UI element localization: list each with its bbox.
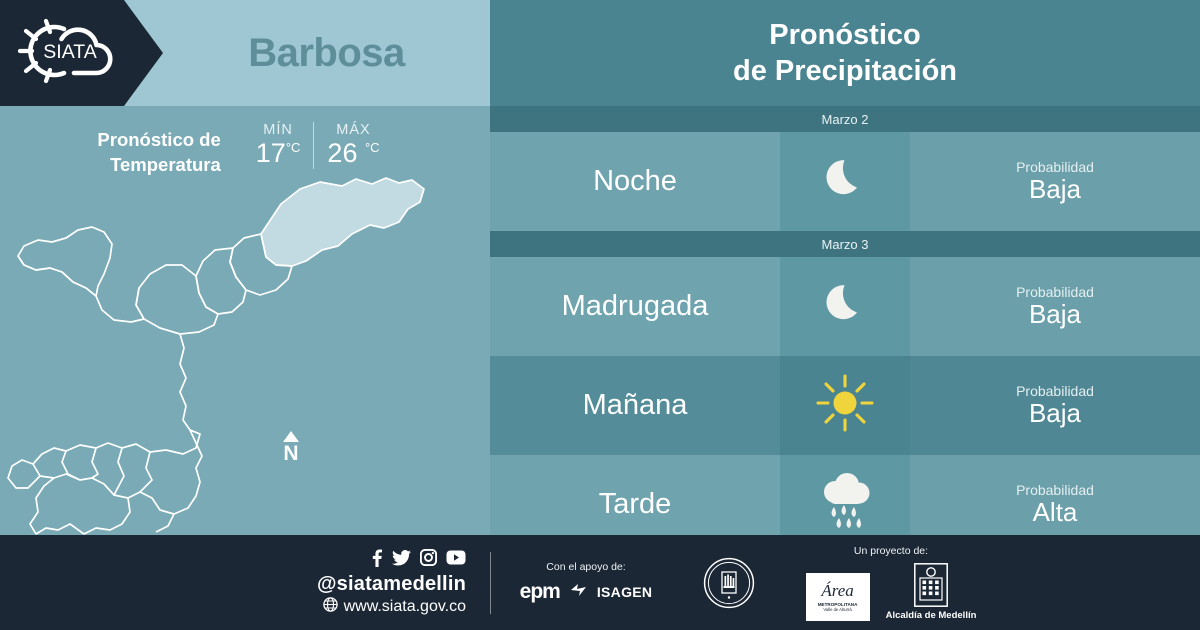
moon-icon	[817, 276, 873, 337]
probability-cell: Probabilidad Baja	[910, 132, 1200, 231]
aburra-valley-map	[0, 162, 490, 535]
support-logos: epm ISAGEN	[520, 580, 653, 604]
rain-cloud-icon	[813, 471, 877, 538]
probability-value: Alta	[1033, 498, 1078, 528]
period-label: Mañana	[490, 356, 780, 455]
temperature-min-label: MÍN	[256, 122, 301, 138]
probability-value: Baja	[1029, 300, 1081, 330]
probability-label: Probabilidad	[1016, 159, 1094, 175]
area-logo-script: Área	[821, 582, 853, 599]
weather-icon-cell	[780, 356, 910, 455]
date-separator: Marzo 3	[490, 231, 1200, 257]
temperature-min-unit: °C	[286, 140, 301, 155]
probability-label: Probabilidad	[1016, 482, 1094, 498]
table-row[interactable]: Madrugada Probabilidad Baja	[490, 257, 1200, 356]
temperature-title-line1: Pronóstico de	[97, 128, 220, 153]
header-left: SIATA Barbosa	[0, 0, 490, 106]
probability-value: Baja	[1029, 399, 1081, 429]
sun-cloud-icon: SIATA	[12, 15, 130, 92]
north-compass: N	[276, 431, 306, 464]
website-link[interactable]: www.siata.gov.co	[323, 597, 466, 617]
forecast-title-line1: Pronóstico	[769, 17, 920, 53]
weather-icon-cell	[780, 132, 910, 231]
probability-label: Probabilidad	[1016, 284, 1094, 300]
website-url: www.siata.gov.co	[344, 598, 466, 616]
siata-wordmark: SIATA	[43, 41, 96, 63]
social-handle[interactable]: @siatamedellin	[317, 573, 466, 596]
precipitation-forecast-table: Marzo 2 Noche Probabilidad Baja Marzo 3 …	[490, 106, 1200, 535]
support-caption: Con el apoyo de:	[546, 561, 625, 573]
temperature-max-unit: °C	[365, 140, 380, 155]
area-logo-line2: Valle de Aburrá	[823, 607, 851, 612]
isagen-mark-icon	[570, 583, 587, 602]
weather-forecast-infographic: SIATA Barbosa Pronóstico de Precipitació…	[0, 0, 1200, 630]
siata-logo-banner: SIATA	[0, 0, 163, 106]
page-title: Barbosa	[163, 0, 490, 106]
probability-label: Probabilidad	[1016, 383, 1094, 399]
table-row[interactable]: Mañana	[490, 356, 1200, 455]
alcaldia-crest-icon	[914, 563, 948, 607]
date-separator: Marzo 2	[490, 106, 1200, 132]
alcaldia-medellin-logo: Alcaldía de Medellín	[886, 563, 977, 621]
header-right: Pronóstico de Precipitación	[490, 0, 1200, 106]
forecast-title-line2: de Precipitación	[733, 53, 957, 89]
table-row[interactable]: Noche Probabilidad Baja	[490, 132, 1200, 231]
footer-social-block: @siatamedellin www.siata.gov.co	[0, 549, 490, 617]
project-caption: Un proyecto de:	[854, 545, 928, 557]
temperature-max-label: MÁX	[327, 122, 379, 138]
globe-icon	[323, 597, 338, 617]
footer: @siatamedellin www.siata.gov.co Con el a…	[0, 535, 1200, 630]
map-panel: Pronóstico de Temperatura MÍN 17°C MÁX 2…	[0, 106, 490, 535]
twitter-icon[interactable]	[392, 550, 411, 571]
facebook-icon[interactable]	[371, 549, 383, 572]
weather-icon-cell	[780, 257, 910, 356]
probability-cell: Probabilidad Baja	[910, 356, 1200, 455]
probability-cell: Probabilidad Baja	[910, 257, 1200, 356]
period-label: Noche	[490, 132, 780, 231]
isagen-logo: ISAGEN	[597, 584, 652, 600]
map-region-barbosa	[261, 178, 424, 266]
youtube-icon[interactable]	[446, 550, 466, 570]
footer-support-block: Con el apoyo de: epm ISAGEN	[491, 561, 681, 604]
udea-seal-logo	[681, 557, 776, 609]
epm-logo: epm	[520, 580, 560, 604]
sun-icon	[815, 373, 875, 438]
footer-project-block: Un proyecto de: Área METROPOLITANA Valle…	[776, 545, 1006, 621]
social-icons	[371, 549, 466, 572]
project-logos: Área METROPOLITANA Valle de Aburrá	[806, 563, 977, 621]
north-label: N	[276, 443, 306, 464]
instagram-icon[interactable]	[420, 549, 437, 571]
period-label: Madrugada	[490, 257, 780, 356]
north-arrow-icon	[283, 431, 299, 442]
area-metropolitana-logo: Área METROPOLITANA Valle de Aburrá	[806, 573, 870, 621]
probability-value: Baja	[1029, 175, 1081, 205]
alcaldia-label: Alcaldía de Medellín	[886, 610, 977, 621]
moon-icon	[817, 151, 873, 212]
